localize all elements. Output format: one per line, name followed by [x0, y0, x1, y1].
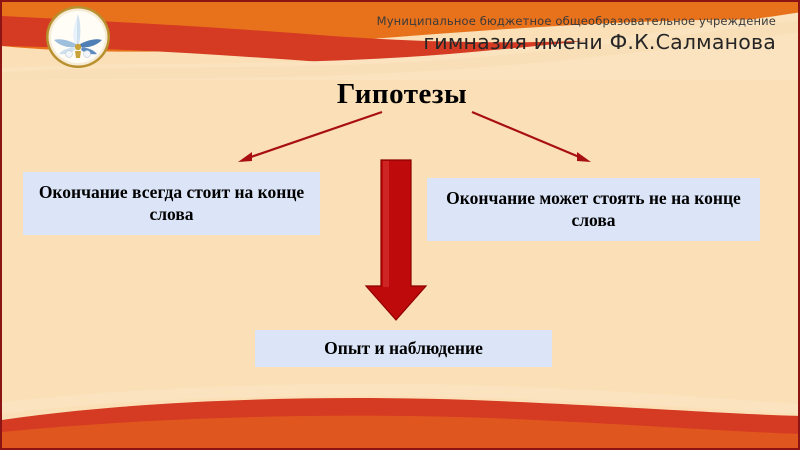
school-emblem-icon [44, 4, 112, 70]
branch-arrow-right [472, 112, 591, 162]
hypothesis-box-right-label: Окончание может стоять не на конце слова [437, 188, 750, 232]
institution-name-label: гимназия имени Ф.К.Салманова [377, 32, 776, 53]
hypothesis-box-left: Окончание всегда стоит на конце слова [23, 172, 320, 235]
page-title: Гипотезы [2, 78, 800, 111]
institution-type-label: Муниципальное бюджетное общеобразователь… [377, 16, 776, 28]
presentation-slide: Муниципальное бюджетное общеобразователь… [0, 0, 800, 450]
footer-cream-wave [2, 384, 800, 414]
thick-down-arrow [366, 160, 426, 320]
hypothesis-box-left-label: Окончание всегда стоит на конце слова [33, 182, 310, 226]
branch-arrow-left [238, 112, 382, 162]
footer-orange-wave [2, 416, 800, 450]
conclusion-box-label: Опыт и наблюдение [324, 338, 483, 359]
institution-header: Муниципальное бюджетное общеобразователь… [377, 16, 776, 52]
footer-red-wave [2, 398, 800, 450]
conclusion-box: Опыт и наблюдение [255, 330, 552, 367]
hypothesis-box-right: Окончание может стоять не на конце слова [427, 178, 760, 241]
